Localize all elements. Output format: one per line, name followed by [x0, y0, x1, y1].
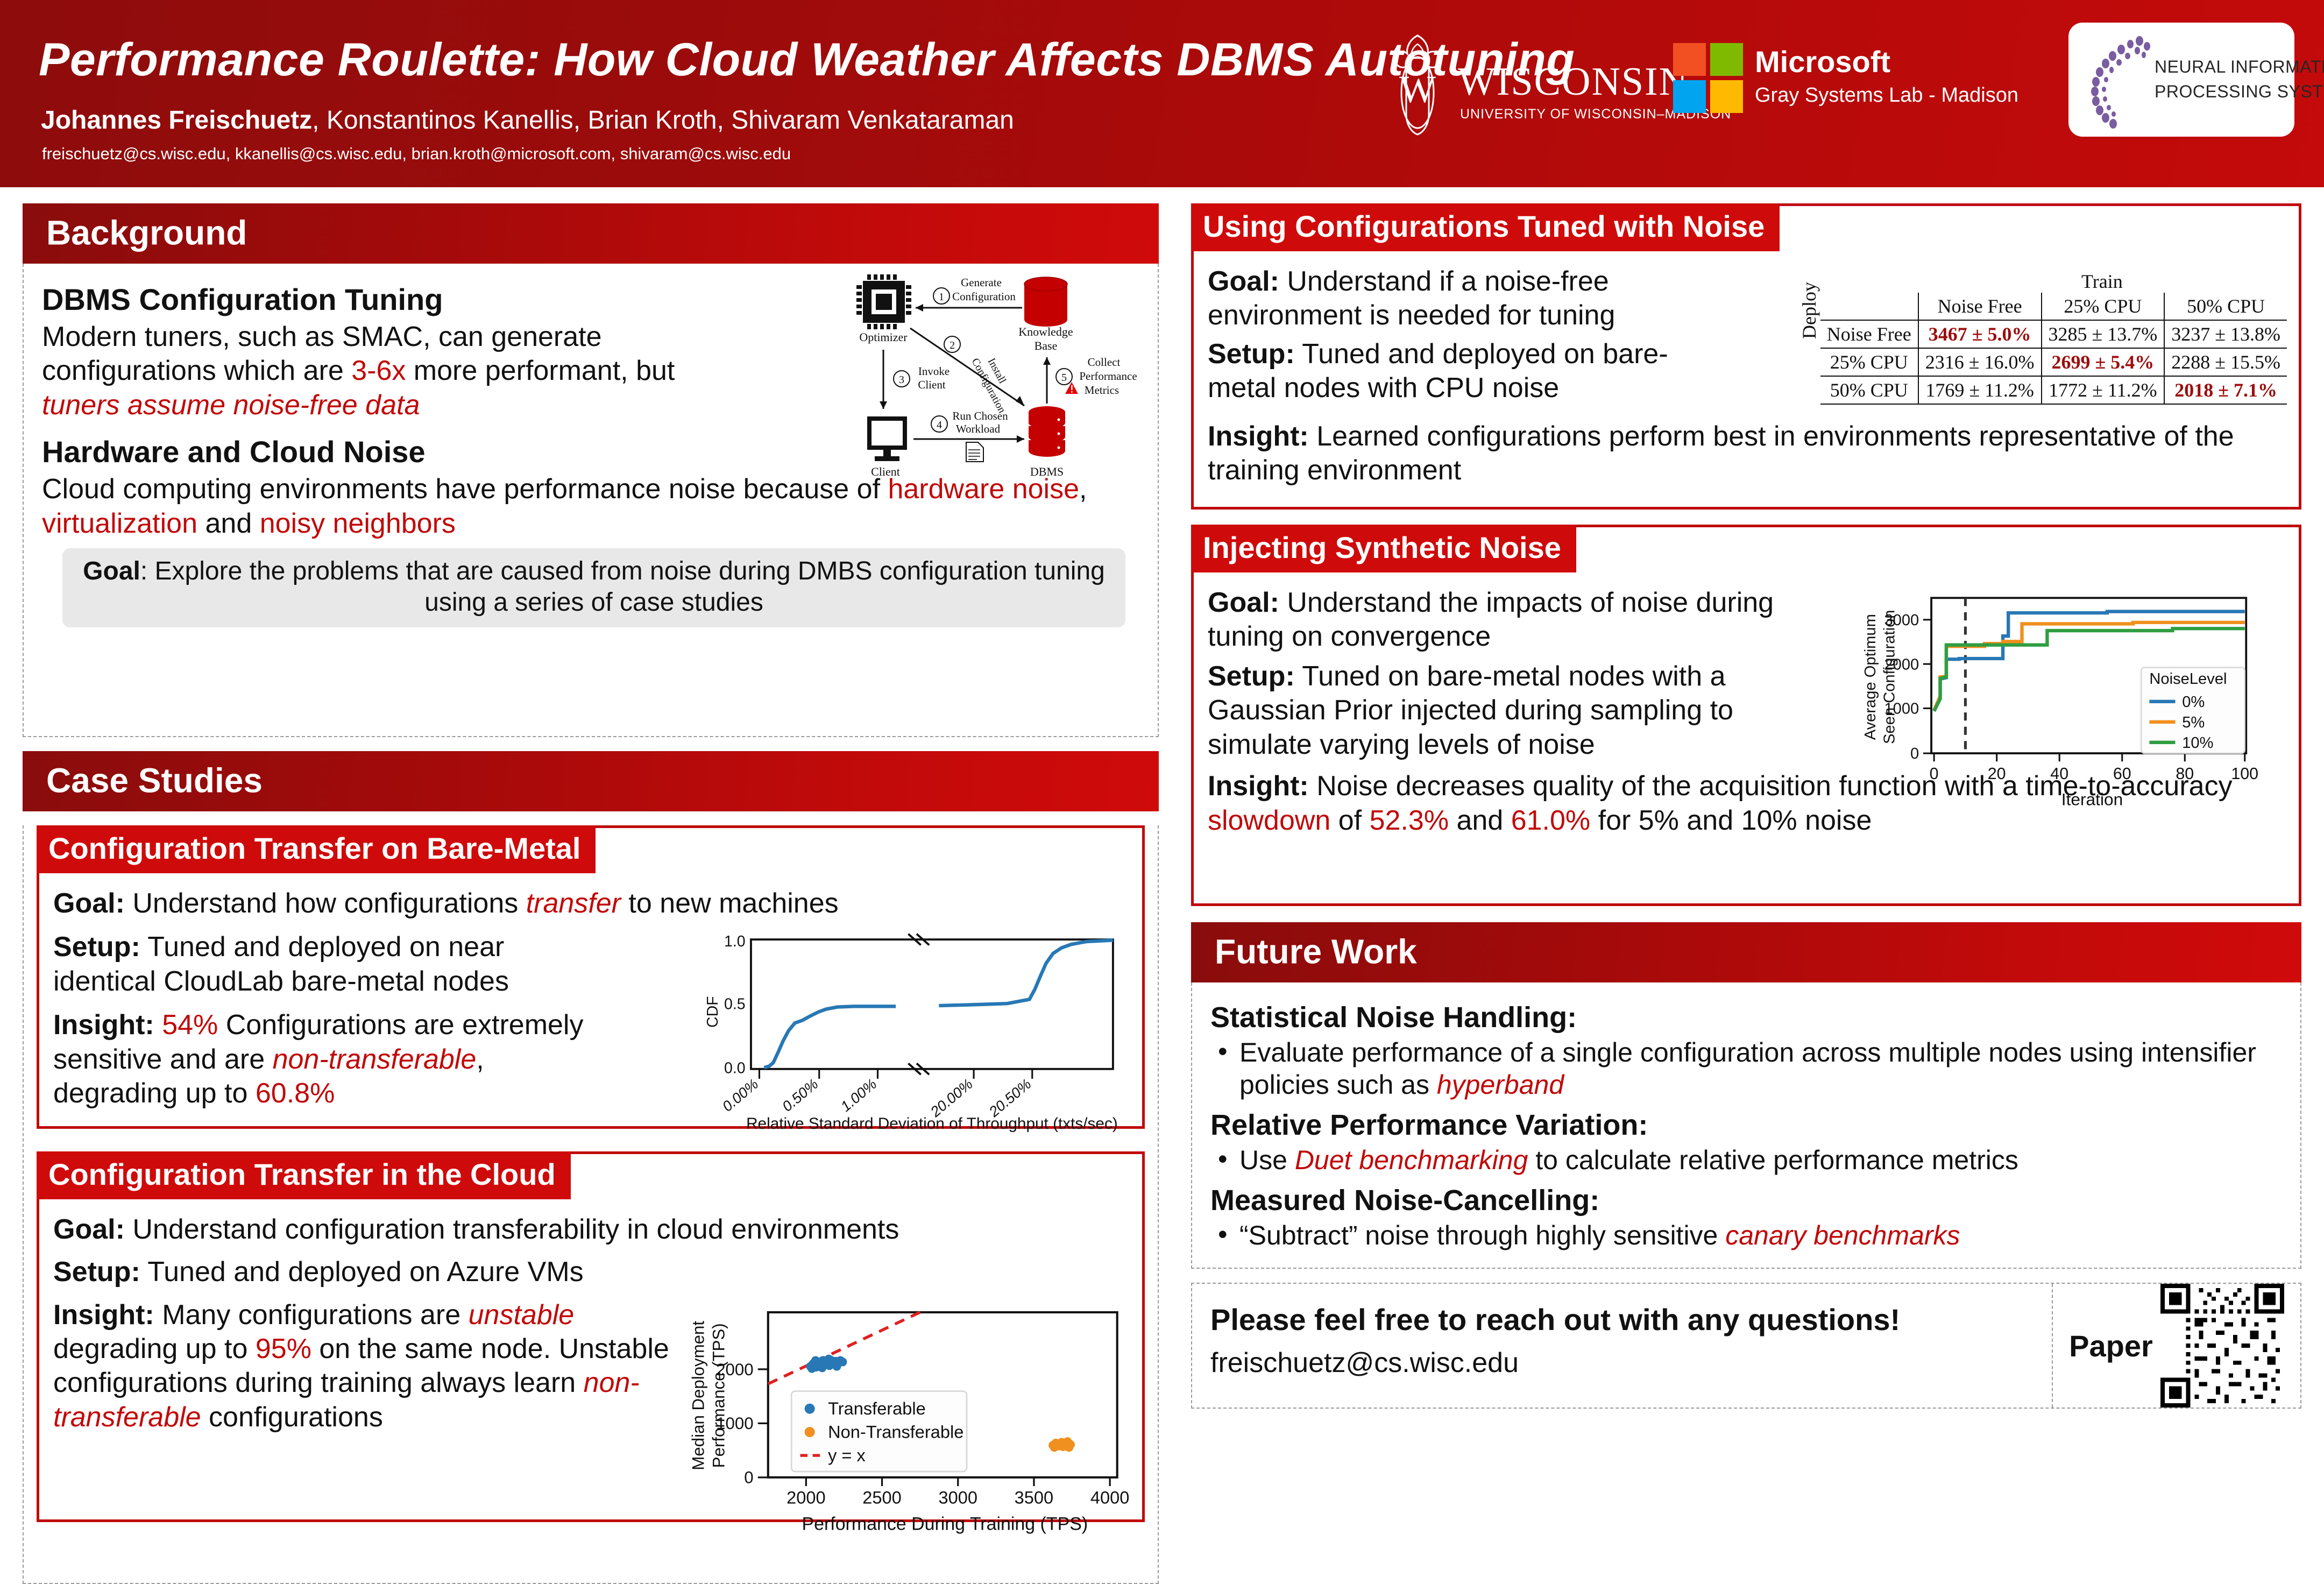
svg-text:Invoke: Invoke — [918, 365, 950, 378]
tuning-pipeline-diagram: Optimizer Knowledge Base 1 Generate Conf… — [847, 265, 1148, 491]
svg-text:1.00%: 1.00% — [837, 1076, 880, 1115]
dbms-icon — [1029, 406, 1065, 457]
card1-insight: Insight: 54% Configurations are extremel… — [53, 1008, 602, 1111]
svg-text:Run Chosen: Run Chosen — [952, 409, 1008, 422]
synthetic-goal: Goal: Understand the impacts of noise du… — [1208, 586, 1816, 654]
legend-noise-10: 10% — [2182, 734, 2213, 752]
author-primary: Johannes Freischuetz — [41, 106, 312, 135]
neurips-line-1: NEURAL INFORMATION — [2155, 57, 2324, 77]
table-col-header: 50% CPU — [2164, 293, 2287, 320]
chart-scatter-cloud: 0 1000 2000 Median Deployment Performanc… — [682, 1302, 1150, 1543]
svg-text:20.50%: 20.50% — [985, 1076, 1034, 1121]
svg-text:Metrics: Metrics — [1085, 384, 1119, 397]
noise-train-deploy-table: Deploy Train Noise Free 25% CPU 50% CPU — [1798, 270, 2287, 405]
svg-text:W: W — [1399, 68, 1436, 111]
page-title: Performance Roulette: How Cloud Weather … — [39, 33, 1575, 87]
knowledge-base-icon — [1024, 277, 1067, 327]
section-band-background: Background — [23, 203, 1159, 264]
card-header-tuned-with-noise: Using Configurations Tuned with Noise — [1191, 203, 1780, 251]
card2-goal: Goal: Understand configuration transfera… — [53, 1213, 1054, 1247]
table-col-header: Noise Free — [1918, 293, 2042, 320]
svg-text:Knowledge: Knowledge — [1018, 325, 1073, 338]
svg-text:40: 40 — [2050, 765, 2068, 783]
legend-noise-0: 0% — [2182, 694, 2205, 711]
svg-text:3500: 3500 — [1015, 1488, 1053, 1507]
section-title-case-studies: Case Studies — [46, 761, 263, 801]
svg-text:Average Optimum: Average Optimum — [1862, 614, 1879, 740]
author-others: , Konstantinos Kanellis, Brian Kroth, Sh… — [312, 106, 1014, 135]
table-cell: 2288 ± 15.5% — [2164, 348, 2287, 376]
contact-headline: Please feel free to reach out with any q… — [1210, 1302, 2052, 1337]
svg-text:Generate: Generate — [961, 276, 1002, 289]
svg-text:5: 5 — [1061, 372, 1067, 384]
neurips-logo: NEURAL INFORMATION PROCESSING SYSTEMS — [2068, 23, 2294, 137]
left-column: Background — [23, 203, 1159, 1584]
future-work-heading-2: Relative Performance Variation: — [1210, 1108, 2282, 1142]
svg-text:3000: 3000 — [938, 1488, 977, 1507]
background-panel: Optimizer Knowledge Base 1 Generate Conf… — [23, 264, 1159, 737]
paper-label: Paper — [2069, 1328, 2153, 1363]
svg-text:60: 60 — [2113, 765, 2131, 783]
section-band-future-work: Future Work — [1191, 922, 2301, 982]
svg-text:100: 100 — [2231, 765, 2258, 783]
legend-title-noiselevel: NoiseLevel — [2149, 670, 2227, 688]
card2-insight: Insight: Many configurations are unstabl… — [53, 1298, 699, 1435]
svg-text:0: 0 — [1930, 765, 1939, 783]
svg-text:Median Deployment: Median Deployment — [689, 1320, 707, 1470]
table-row-header: 50% CPU — [1820, 376, 1918, 404]
section-title-background: Background — [46, 213, 247, 253]
svg-text:0.0: 0.0 — [724, 1060, 746, 1077]
wisconsin-crest-icon: W — [1383, 33, 1452, 136]
contact-email[interactable]: freischuetz@cs.wisc.edu — [1210, 1347, 2052, 1379]
svg-text:CDF: CDF — [704, 996, 721, 1028]
table-row-header: 25% CPU — [1820, 348, 1918, 376]
wisconsin-logo: W WISCONSIN UNIVERSITY OF WISCONSIN–MADI… — [1383, 33, 1711, 141]
noise-setup: Setup: Tuned and deployed on bare-metal … — [1208, 337, 1735, 406]
svg-text:0.50%: 0.50% — [779, 1076, 821, 1115]
svg-text:Workload: Workload — [956, 422, 1001, 435]
svg-text:Performance: Performance — [1079, 370, 1137, 383]
svg-text:Collect: Collect — [1088, 356, 1121, 369]
author-list: Johannes Freischuetz, Konstantinos Kanel… — [41, 105, 1014, 135]
svg-text:2000: 2000 — [787, 1488, 825, 1507]
table-cell: 3467 ± 5.0% — [1918, 320, 2042, 348]
svg-text:Seen Configuration: Seen Configuration — [1881, 610, 1898, 744]
table-row: 50% CPU 1769 ± 11.2% 1772 ± 11.2% 2018 ±… — [1820, 376, 2287, 404]
card-title-tuned-with-noise: Using Configurations Tuned with Noise — [1203, 209, 1765, 243]
svg-text:2500: 2500 — [862, 1488, 901, 1507]
case-study-card-cloud: Configuration Transfer in the Cloud 0 — [37, 1151, 1145, 1522]
future-work-item: Evaluate performance of a single configu… — [1210, 1036, 2282, 1101]
table-row: Noise Free 3467 ± 5.0% 3285 ± 13.7% 3237… — [1820, 320, 2287, 348]
svg-text:2: 2 — [950, 340, 955, 351]
table-cell: 2316 ± 16.0% — [1918, 348, 2042, 376]
future-work-item: Use Duet benchmarking to calculate relat… — [1210, 1144, 2282, 1176]
svg-text:Performance (TPS): Performance (TPS) — [709, 1323, 728, 1468]
future-work-panel: Statistical Noise Handling: Evaluate per… — [1191, 982, 2301, 1269]
paper-qr-code[interactable] — [2160, 1284, 2284, 1408]
future-work-heading-3: Measured Noise-Cancelling: — [1210, 1184, 2282, 1217]
chart-cdf-bare-metal: 1.0 0.5 0.0 CDF — [673, 930, 1146, 1166]
svg-text:0: 0 — [1910, 745, 1919, 762]
table-cell: 2018 ± 7.1% — [2164, 376, 2287, 404]
svg-text:1: 1 — [939, 291, 944, 303]
neurips-line-2: PROCESSING SYSTEMS — [2155, 82, 2324, 102]
background-paragraph-1: Modern tuners, such as SMAC, can generat… — [42, 320, 704, 422]
future-work-item: “Subtract” noise through highly sensitiv… — [1210, 1219, 2282, 1251]
neurips-dots-icon — [2079, 32, 2160, 129]
svg-text:Client: Client — [871, 465, 900, 478]
table-axis-train: Train — [1820, 270, 2287, 293]
noise-goal: Goal: Understand if a noise-free environ… — [1208, 265, 1735, 333]
svg-text:0.5: 0.5 — [724, 996, 746, 1013]
card-synthetic-noise: Injecting Synthetic Noise 0 1000 2000 — [1191, 525, 2301, 906]
svg-text:20: 20 — [1988, 765, 2006, 783]
background-goal-text: Goal: Explore the problems that are caus… — [79, 556, 1109, 618]
convergence-xlabel: Iteration — [2061, 789, 2123, 809]
table-row: 25% CPU 2316 ± 16.0% 2699 ± 5.4% 2288 ± … — [1820, 348, 2287, 376]
section-band-case-studies: Case Studies — [23, 751, 1159, 811]
svg-text:Optimizer: Optimizer — [859, 330, 908, 344]
table-cell: 1772 ± 11.2% — [2042, 376, 2165, 404]
author-emails: freischuetz@cs.wisc.edu, kkanellis@cs.wi… — [42, 144, 791, 164]
legend-non-transferable: Non-Transferable — [828, 1422, 963, 1441]
speedup-highlight: 3-6x — [351, 355, 406, 386]
section-title-future-work: Future Work — [1215, 932, 1417, 972]
svg-text:0.00%: 0.00% — [719, 1076, 761, 1115]
chart-convergence-noise: 0 1000 2000 3000 Average Optimum Seen Co… — [1840, 587, 2303, 812]
table-cell: 3285 ± 13.7% — [2042, 320, 2165, 348]
poster-header: Performance Roulette: How Cloud Weather … — [0, 0, 2324, 187]
table-axis-deploy: Deploy — [1798, 270, 1820, 388]
scatter-xlabel: Performance During Training (TPS) — [802, 1514, 1088, 1534]
card-title-cloud: Configuration Transfer in the Cloud — [48, 1157, 556, 1191]
card-header-synthetic-noise: Injecting Synthetic Noise — [1191, 525, 1576, 572]
svg-text:0: 0 — [744, 1468, 753, 1487]
future-work-heading-1: Statistical Noise Handling: — [1210, 1001, 2282, 1034]
card1-setup: Setup: Tuned and deployed on near identi… — [53, 930, 602, 999]
svg-text:Client: Client — [918, 378, 945, 391]
microsoft-name: Microsoft — [1755, 44, 1890, 79]
card2-setup: Setup: Tuned and deployed on Azure VMs — [53, 1255, 699, 1289]
wisconsin-wordmark: WISCONSIN — [1458, 59, 1689, 105]
workload-document-icon — [966, 442, 983, 462]
client-monitor-icon — [867, 416, 907, 461]
svg-text:20.00%: 20.00% — [927, 1076, 976, 1121]
cdf-xlabel: Relative Standard Deviation of Throughpu… — [746, 1115, 1118, 1133]
table-row-header: Noise Free — [1820, 320, 1918, 348]
card1-goal: Goal: Understand how configurations tran… — [53, 887, 1054, 921]
contact-panel: Please feel free to reach out with any q… — [1191, 1283, 2301, 1409]
card-header-cloud: Configuration Transfer in the Cloud — [37, 1151, 571, 1199]
svg-text:4: 4 — [937, 419, 942, 431]
svg-text:Base: Base — [1035, 339, 1058, 352]
case-studies-panel: Configuration Transfer on Bare-Metal 1.0… — [23, 825, 1159, 1584]
card-tuned-with-noise: Using Configurations Tuned with Noise De… — [1191, 203, 2301, 510]
svg-text:4000: 4000 — [1090, 1488, 1129, 1507]
optimizer-chip-icon — [856, 274, 911, 329]
table-cell: 1769 ± 11.2% — [1918, 376, 2042, 404]
noise-insight: Insight: Learned configurations perform … — [1208, 420, 2251, 488]
svg-text:Configuration: Configuration — [952, 290, 1016, 303]
card-title-bare-metal: Configuration Transfer on Bare-Metal — [48, 831, 580, 865]
table-cell: 2699 ± 5.4% — [2042, 348, 2165, 376]
legend-noise-5: 5% — [2182, 714, 2205, 731]
card-header-bare-metal: Configuration Transfer on Bare-Metal — [37, 825, 596, 873]
svg-text:3: 3 — [899, 374, 904, 386]
right-column: Using Configurations Tuned with Noise De… — [1191, 203, 2301, 1409]
noise-free-assumption: tuners assume noise-free data — [42, 390, 420, 421]
microsoft-squares-icon — [1673, 43, 1743, 113]
table-col-header: 25% CPU — [2042, 293, 2165, 320]
background-subhead-1: DBMS Configuration Tuning — [42, 282, 714, 317]
background-goal-box: Goal: Explore the problems that are caus… — [62, 548, 1125, 627]
table-cell: 3237 ± 13.8% — [2164, 320, 2287, 348]
card-title-synthetic-noise: Injecting Synthetic Noise — [1203, 531, 1561, 564]
legend-transferable: Transferable — [828, 1399, 926, 1418]
svg-text:1.0: 1.0 — [724, 933, 746, 950]
case-study-card-bare-metal: Configuration Transfer on Bare-Metal 1.0… — [37, 825, 1145, 1129]
synthetic-setup: Setup: Tuned on bare-metal nodes with a … — [1208, 660, 1843, 762]
svg-text:80: 80 — [2176, 765, 2194, 783]
svg-text:DBMS: DBMS — [1030, 465, 1064, 478]
microsoft-lab-name: Gray Systems Lab - Madison — [1755, 84, 2018, 107]
legend-y-equals-x: y = x — [828, 1446, 866, 1465]
